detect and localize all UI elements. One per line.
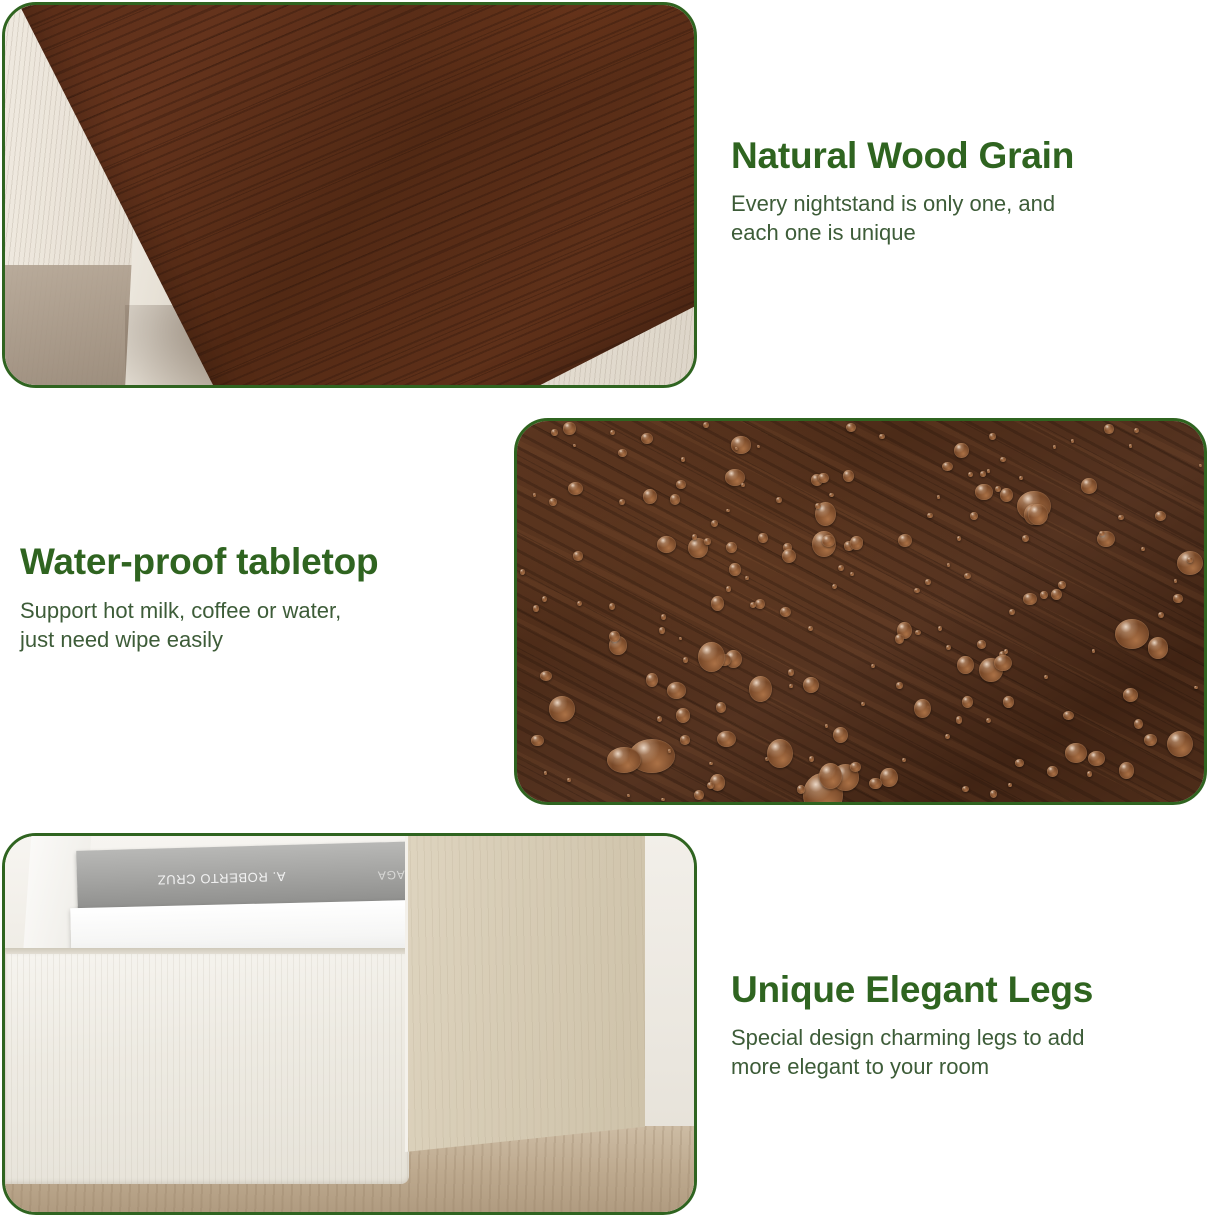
water-droplet bbox=[815, 503, 820, 509]
water-droplet bbox=[709, 762, 712, 765]
feature-text-natural-wood-grain: Natural Wood Grain Every nightstand is o… bbox=[731, 136, 1181, 247]
water-droplet bbox=[646, 673, 658, 687]
water-droplet bbox=[563, 422, 576, 436]
water-droplet bbox=[676, 480, 687, 489]
water-droplet bbox=[968, 472, 973, 477]
feature-photo-water-proof-tabletop bbox=[514, 418, 1207, 805]
water-droplet bbox=[879, 434, 884, 439]
water-droplet bbox=[1081, 478, 1097, 493]
water-droplet bbox=[1040, 591, 1048, 599]
water-droplet bbox=[1177, 551, 1203, 575]
water-droplets-photo bbox=[517, 421, 1204, 802]
water-droplet bbox=[789, 684, 793, 688]
water-droplet bbox=[680, 735, 690, 744]
water-droplet bbox=[861, 702, 865, 706]
water-droplet bbox=[641, 433, 653, 444]
water-droplet bbox=[964, 573, 971, 579]
water-droplet bbox=[681, 457, 685, 461]
water-droplet bbox=[679, 637, 682, 640]
feature-description: Every nightstand is only one, and each o… bbox=[731, 189, 1181, 247]
water-droplet bbox=[956, 716, 963, 724]
water-droplet bbox=[987, 469, 990, 472]
water-droplet bbox=[980, 471, 986, 476]
water-droplet bbox=[970, 512, 978, 520]
water-droplet bbox=[838, 565, 844, 571]
water-droplet bbox=[1129, 444, 1132, 447]
water-droplet bbox=[869, 778, 882, 790]
nightstand-drawer-front bbox=[5, 954, 409, 1184]
water-droplet bbox=[995, 486, 1001, 493]
water-droplet bbox=[731, 436, 752, 454]
nightstand-legs-photo: A. ROBERTO CRUZ SAGA BA PEARL FOR OBSTET… bbox=[5, 836, 694, 1212]
water-droplet bbox=[1058, 581, 1066, 589]
water-droplet bbox=[551, 429, 558, 437]
water-droplet bbox=[1071, 439, 1074, 442]
water-droplet bbox=[1167, 731, 1193, 757]
water-droplet bbox=[573, 444, 576, 447]
water-droplet bbox=[1004, 649, 1008, 654]
water-droplet bbox=[698, 642, 725, 672]
feature-heading: Unique Elegant Legs bbox=[731, 970, 1191, 1010]
water-droplet bbox=[670, 494, 680, 504]
water-droplet bbox=[568, 482, 583, 495]
feature-description-line-1: Every nightstand is only one, and bbox=[731, 189, 1181, 218]
water-droplet bbox=[797, 785, 805, 793]
water-droplet bbox=[977, 640, 986, 649]
water-droplet bbox=[542, 596, 547, 602]
water-droplet bbox=[1008, 783, 1012, 787]
water-droplet bbox=[735, 447, 738, 450]
water-droplet bbox=[1155, 511, 1166, 521]
water-droplet bbox=[1022, 535, 1029, 542]
water-droplet bbox=[898, 534, 912, 547]
water-droplet bbox=[1104, 424, 1114, 434]
water-droplet bbox=[989, 433, 995, 440]
water-droplet bbox=[549, 696, 575, 722]
water-droplet bbox=[962, 786, 969, 792]
water-droplet bbox=[676, 708, 690, 723]
water-droplet bbox=[573, 551, 583, 560]
water-droplet bbox=[788, 669, 795, 676]
feature-description-line-2: more elegant to your room bbox=[731, 1052, 1191, 1081]
water-droplet bbox=[990, 790, 997, 797]
feature-photo-unique-elegant-legs: A. ROBERTO CRUZ SAGA BA PEARL FOR OBSTET… bbox=[2, 833, 697, 1215]
feature-heading: Water-proof tabletop bbox=[20, 542, 490, 582]
water-droplet bbox=[902, 758, 906, 762]
water-droplet bbox=[567, 778, 571, 781]
water-droplet bbox=[927, 513, 932, 519]
water-droplet bbox=[726, 542, 737, 553]
water-droplet bbox=[957, 656, 974, 674]
water-droplet bbox=[1063, 711, 1074, 720]
water-droplet bbox=[755, 599, 765, 609]
water-droplet bbox=[808, 626, 812, 631]
water-droplet bbox=[661, 614, 666, 620]
feature-description-line-2: just need wipe easily bbox=[20, 625, 490, 654]
water-droplet bbox=[1187, 557, 1193, 563]
water-droplet bbox=[1123, 688, 1138, 701]
water-droplet bbox=[531, 735, 543, 746]
water-droplet bbox=[780, 607, 791, 617]
water-droplet bbox=[975, 484, 992, 500]
water-droplet bbox=[540, 671, 552, 681]
water-droplet bbox=[758, 533, 767, 544]
water-droplet bbox=[533, 493, 536, 497]
water-droplet bbox=[609, 631, 620, 642]
feature-description-line-1: Special design charming legs to add bbox=[731, 1023, 1191, 1052]
water-droplet bbox=[643, 489, 658, 504]
feature-description: Support hot milk, coffee or water, just … bbox=[20, 596, 490, 654]
water-droplet bbox=[1028, 504, 1048, 525]
feature-text-unique-elegant-legs: Unique Elegant Legs Special design charm… bbox=[731, 970, 1191, 1081]
water-droplet bbox=[692, 534, 698, 540]
book-gray-author: A. ROBERTO CRUZ bbox=[157, 869, 286, 888]
feature-description-line-2: each one is unique bbox=[731, 218, 1181, 247]
feature-description-line-1: Support hot milk, coffee or water, bbox=[20, 596, 490, 625]
water-droplet bbox=[914, 699, 931, 719]
water-droplet bbox=[925, 579, 931, 585]
water-droplet bbox=[726, 509, 730, 512]
feature-heading: Natural Wood Grain bbox=[731, 136, 1181, 176]
water-droplet bbox=[668, 749, 672, 752]
water-droplet bbox=[657, 716, 662, 722]
water-droplet bbox=[533, 605, 539, 611]
water-droplet bbox=[549, 498, 557, 506]
wood-grain-photo bbox=[5, 5, 694, 385]
water-droplet bbox=[1115, 619, 1149, 649]
water-droplet bbox=[627, 794, 630, 797]
water-droplet bbox=[1053, 445, 1056, 449]
water-droplet bbox=[1141, 547, 1145, 551]
water-droplet bbox=[716, 702, 727, 713]
water-droplet bbox=[657, 536, 676, 553]
water-droplet bbox=[846, 423, 856, 432]
water-droplet bbox=[1015, 759, 1024, 767]
water-droplet bbox=[896, 682, 902, 689]
water-droplet bbox=[1148, 637, 1169, 658]
water-droplet bbox=[607, 747, 641, 773]
water-droplet bbox=[1065, 743, 1087, 763]
water-droplet bbox=[704, 538, 711, 544]
water-droplet bbox=[1092, 649, 1095, 653]
water-droplet bbox=[694, 790, 704, 800]
feature-description: Special design charming legs to add more… bbox=[731, 1023, 1191, 1081]
water-droplet bbox=[938, 626, 942, 630]
water-droplet bbox=[729, 563, 740, 576]
water-droplet bbox=[1099, 531, 1104, 536]
water-droplet bbox=[661, 798, 665, 801]
water-droplet bbox=[946, 645, 951, 650]
water-droplet bbox=[782, 549, 796, 563]
water-droplet bbox=[745, 576, 748, 580]
water-droplet bbox=[1173, 594, 1182, 603]
water-droplet bbox=[803, 677, 819, 693]
water-droplet bbox=[749, 676, 772, 702]
nightstand-side-panel bbox=[405, 836, 645, 1152]
water-droplet bbox=[618, 449, 627, 457]
wet-wood-surface bbox=[517, 421, 1204, 802]
water-droplet bbox=[544, 771, 548, 775]
water-droplet bbox=[711, 520, 718, 527]
water-droplet bbox=[880, 768, 897, 787]
water-droplet bbox=[707, 782, 714, 789]
water-droplet bbox=[703, 422, 709, 428]
water-droplet bbox=[1119, 762, 1134, 778]
feature-text-water-proof-tabletop: Water-proof tabletop Support hot milk, c… bbox=[20, 542, 490, 654]
water-droplet bbox=[717, 731, 735, 747]
water-droplet bbox=[945, 734, 950, 740]
feature-photo-natural-wood-grain bbox=[2, 2, 697, 388]
water-droplet bbox=[1088, 751, 1106, 766]
water-droplet bbox=[1009, 609, 1015, 615]
water-droplet bbox=[726, 586, 731, 592]
